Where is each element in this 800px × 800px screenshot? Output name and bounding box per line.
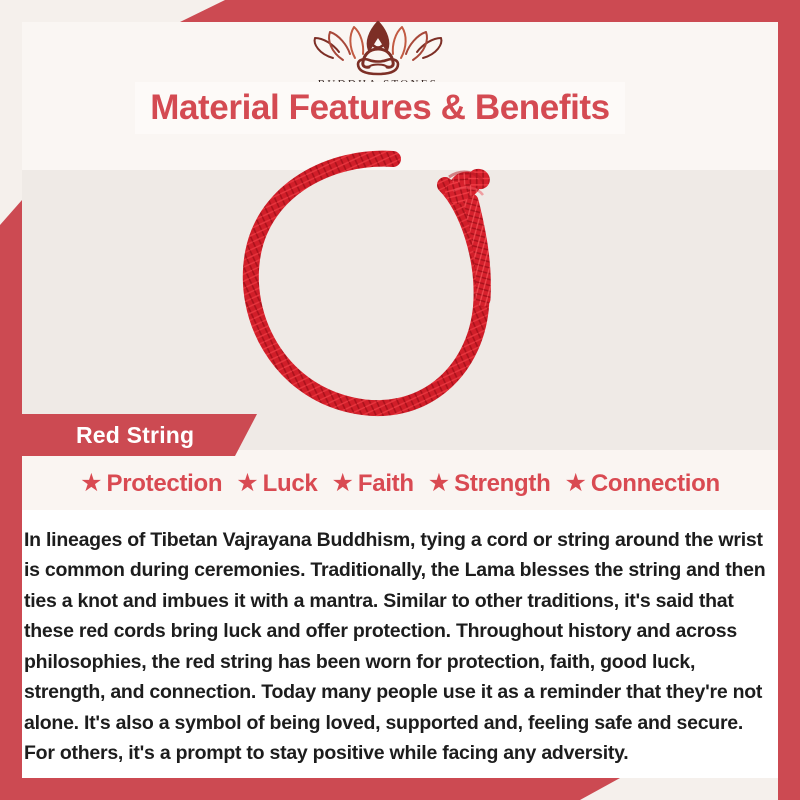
right-red-border <box>778 0 800 800</box>
benefit-item: ★ Protection <box>75 470 227 498</box>
benefit-label: Connection <box>591 470 720 498</box>
brand-logo: BUDDHA STONES <box>0 14 756 90</box>
material-label-text: Red String <box>76 422 194 449</box>
benefit-label: Strength <box>454 470 550 498</box>
page-title: Material Features & Benefits <box>150 88 610 128</box>
infographic-poster: BUDDHA STONES Material Features & Benefi… <box>0 0 800 800</box>
benefit-label: Protection <box>107 470 223 498</box>
benefit-label: Faith <box>358 470 414 498</box>
star-icon: ★ <box>564 471 586 496</box>
star-icon: ★ <box>428 471 450 496</box>
bottom-red-border <box>0 778 800 800</box>
star-icon: ★ <box>236 471 258 496</box>
benefit-item: ★ Connection <box>559 470 724 498</box>
benefits-row: ★ Protection ★ Luck ★ Faith ★ Strength ★… <box>22 464 778 504</box>
material-label-ribbon: Red String <box>22 414 257 456</box>
red-string-bracelet-illustration <box>213 141 543 431</box>
star-icon: ★ <box>80 471 102 496</box>
benefit-item: ★ Strength <box>423 470 556 498</box>
product-image <box>0 140 756 432</box>
benefit-item: ★ Luck <box>231 470 322 498</box>
benefit-label: Luck <box>263 470 318 498</box>
star-icon: ★ <box>331 471 353 496</box>
lotus-meditation-icon <box>303 14 453 76</box>
benefit-item: ★ Faith <box>326 470 418 498</box>
title-banner: Material Features & Benefits <box>135 82 625 134</box>
description-paragraph: In lineages of Tibetan Vajrayana Buddhis… <box>24 525 776 769</box>
